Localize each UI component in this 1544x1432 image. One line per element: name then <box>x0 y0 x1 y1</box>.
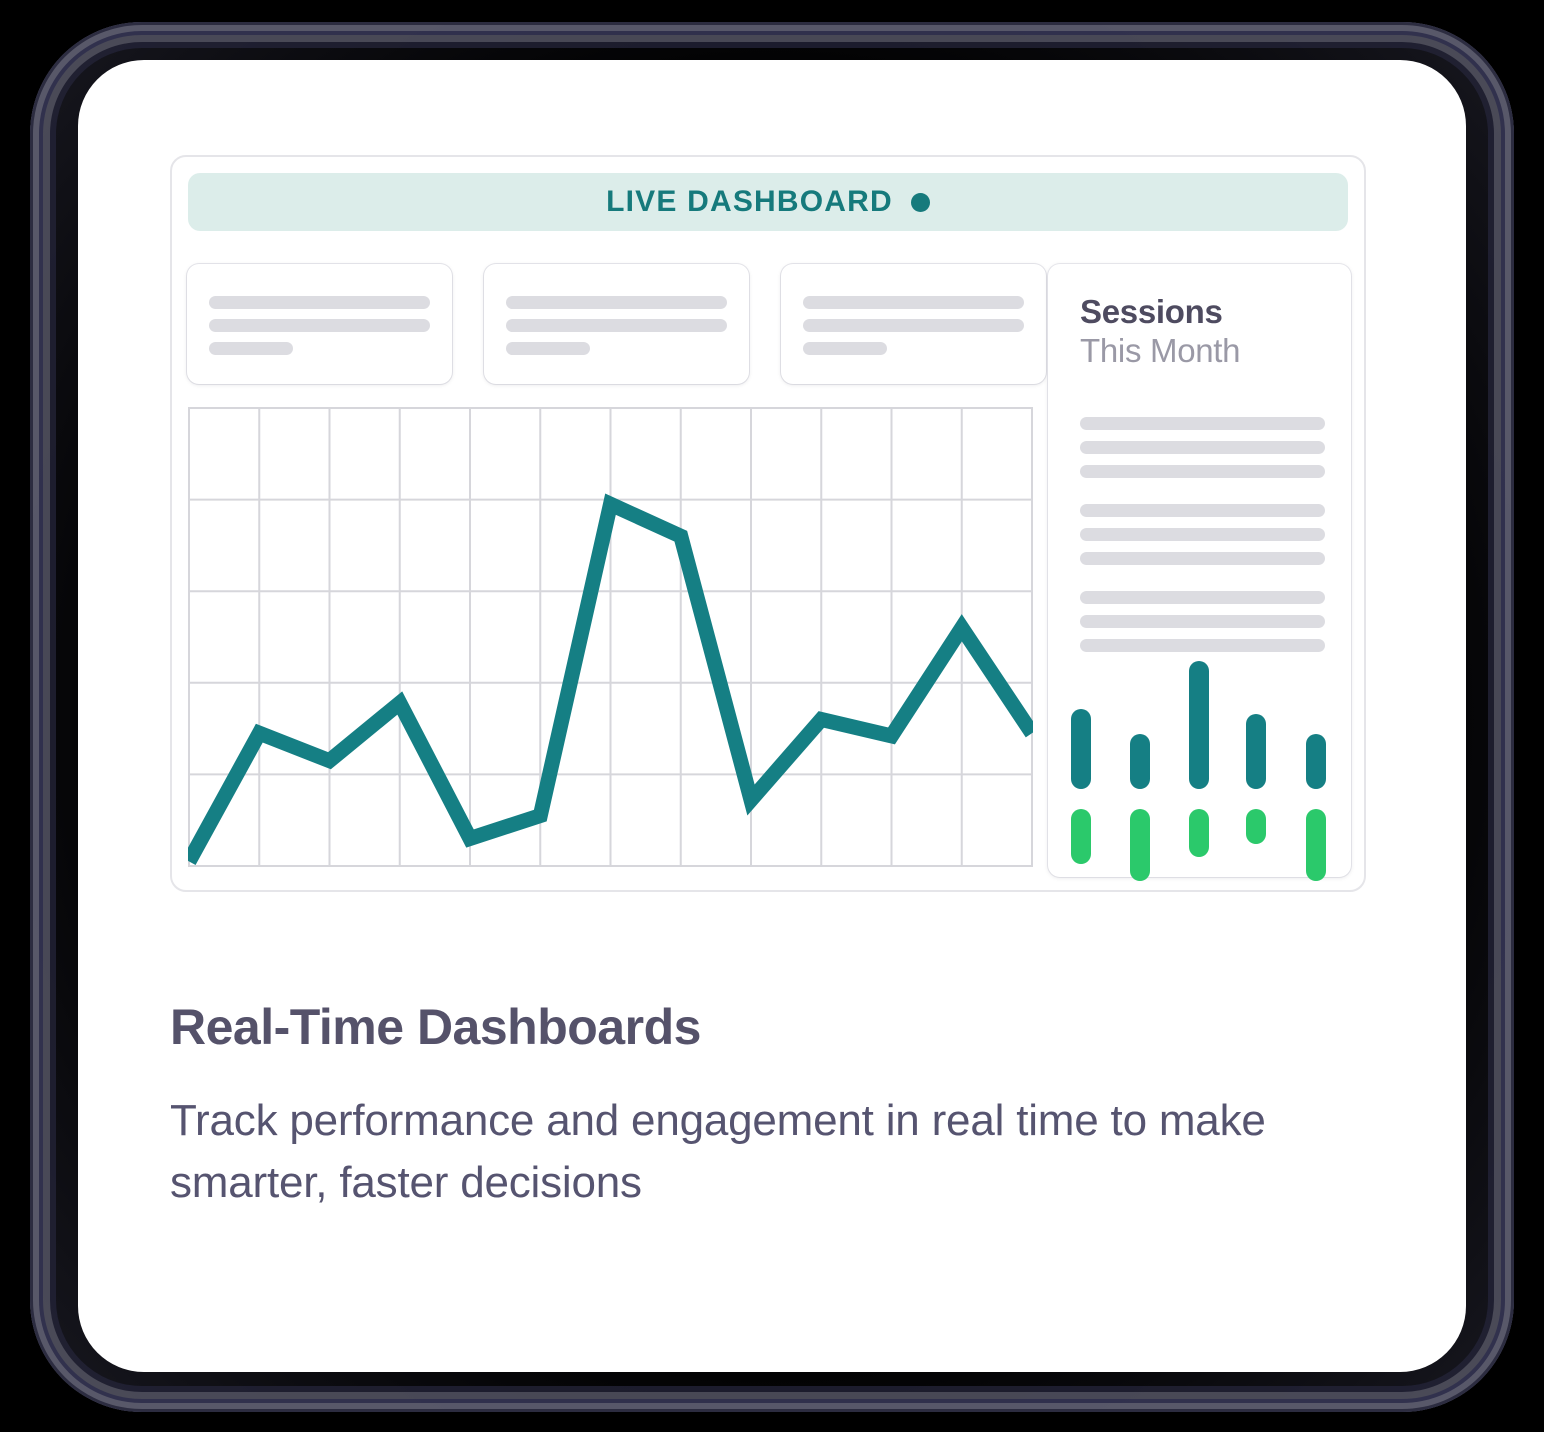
skeleton-line <box>1080 528 1325 541</box>
stat-card-3[interactable] <box>781 264 1046 384</box>
stat-card-2[interactable] <box>484 264 749 384</box>
mini-bar-bottom <box>1189 809 1209 857</box>
mini-bar-bottom <box>1130 809 1150 881</box>
stat-card-row <box>187 264 1047 384</box>
sessions-panel-title: Sessions <box>1080 294 1325 330</box>
mini-bar-top <box>1306 734 1326 789</box>
skeleton-line <box>1080 591 1325 604</box>
skeleton-bar <box>803 319 1024 332</box>
live-status-dot-icon <box>911 193 930 212</box>
live-dashboard-banner: LIVE DASHBOARD <box>188 173 1348 231</box>
skeleton-line <box>1080 417 1325 430</box>
skeleton-bar <box>506 342 590 355</box>
sessions-trend-line-chart[interactable] <box>188 407 1033 867</box>
skeleton-line <box>1080 639 1325 652</box>
page-title: Real-Time Dashboards <box>170 998 701 1056</box>
mini-bar-top <box>1189 661 1209 789</box>
skeleton-line <box>1080 615 1325 628</box>
skeleton-bar <box>209 296 430 309</box>
live-dashboard-label: LIVE DASHBOARD <box>606 185 893 219</box>
skeleton-group <box>1080 591 1325 652</box>
skeleton-bar <box>209 319 430 332</box>
skeleton-line <box>1080 552 1325 565</box>
mini-bar-bottom <box>1246 809 1266 844</box>
skeleton-line <box>1080 465 1325 478</box>
skeleton-bar <box>506 296 727 309</box>
skeleton-bar <box>803 296 1024 309</box>
feature-card: LIVE DASHBOARD <box>78 60 1466 1372</box>
mini-bar-bottom <box>1071 809 1091 864</box>
sessions-mini-bar-chart[interactable] <box>1048 654 1351 869</box>
skeleton-bar <box>803 342 887 355</box>
mini-bar-top <box>1246 714 1266 789</box>
skeleton-line <box>1080 441 1325 454</box>
skeleton-bar <box>209 342 293 355</box>
skeleton-group <box>1080 417 1325 478</box>
screenshot-frame: LIVE DASHBOARD <box>0 0 1544 1432</box>
sessions-panel-subtitle: This Month <box>1080 332 1325 371</box>
mini-bar-bottom <box>1306 809 1326 881</box>
line-chart-svg <box>188 407 1033 867</box>
skeleton-line <box>1080 504 1325 517</box>
sessions-panel: Sessions This Month <box>1048 264 1351 877</box>
page-description: Track performance and engagement in real… <box>170 1090 1350 1215</box>
sessions-skeleton-list <box>1080 417 1325 652</box>
skeleton-bar <box>506 319 727 332</box>
dashboard-preview-panel: LIVE DASHBOARD <box>170 155 1366 892</box>
mini-bar-top <box>1130 734 1150 789</box>
mini-bar-top <box>1071 709 1091 789</box>
stat-card-1[interactable] <box>187 264 452 384</box>
skeleton-group <box>1080 504 1325 565</box>
